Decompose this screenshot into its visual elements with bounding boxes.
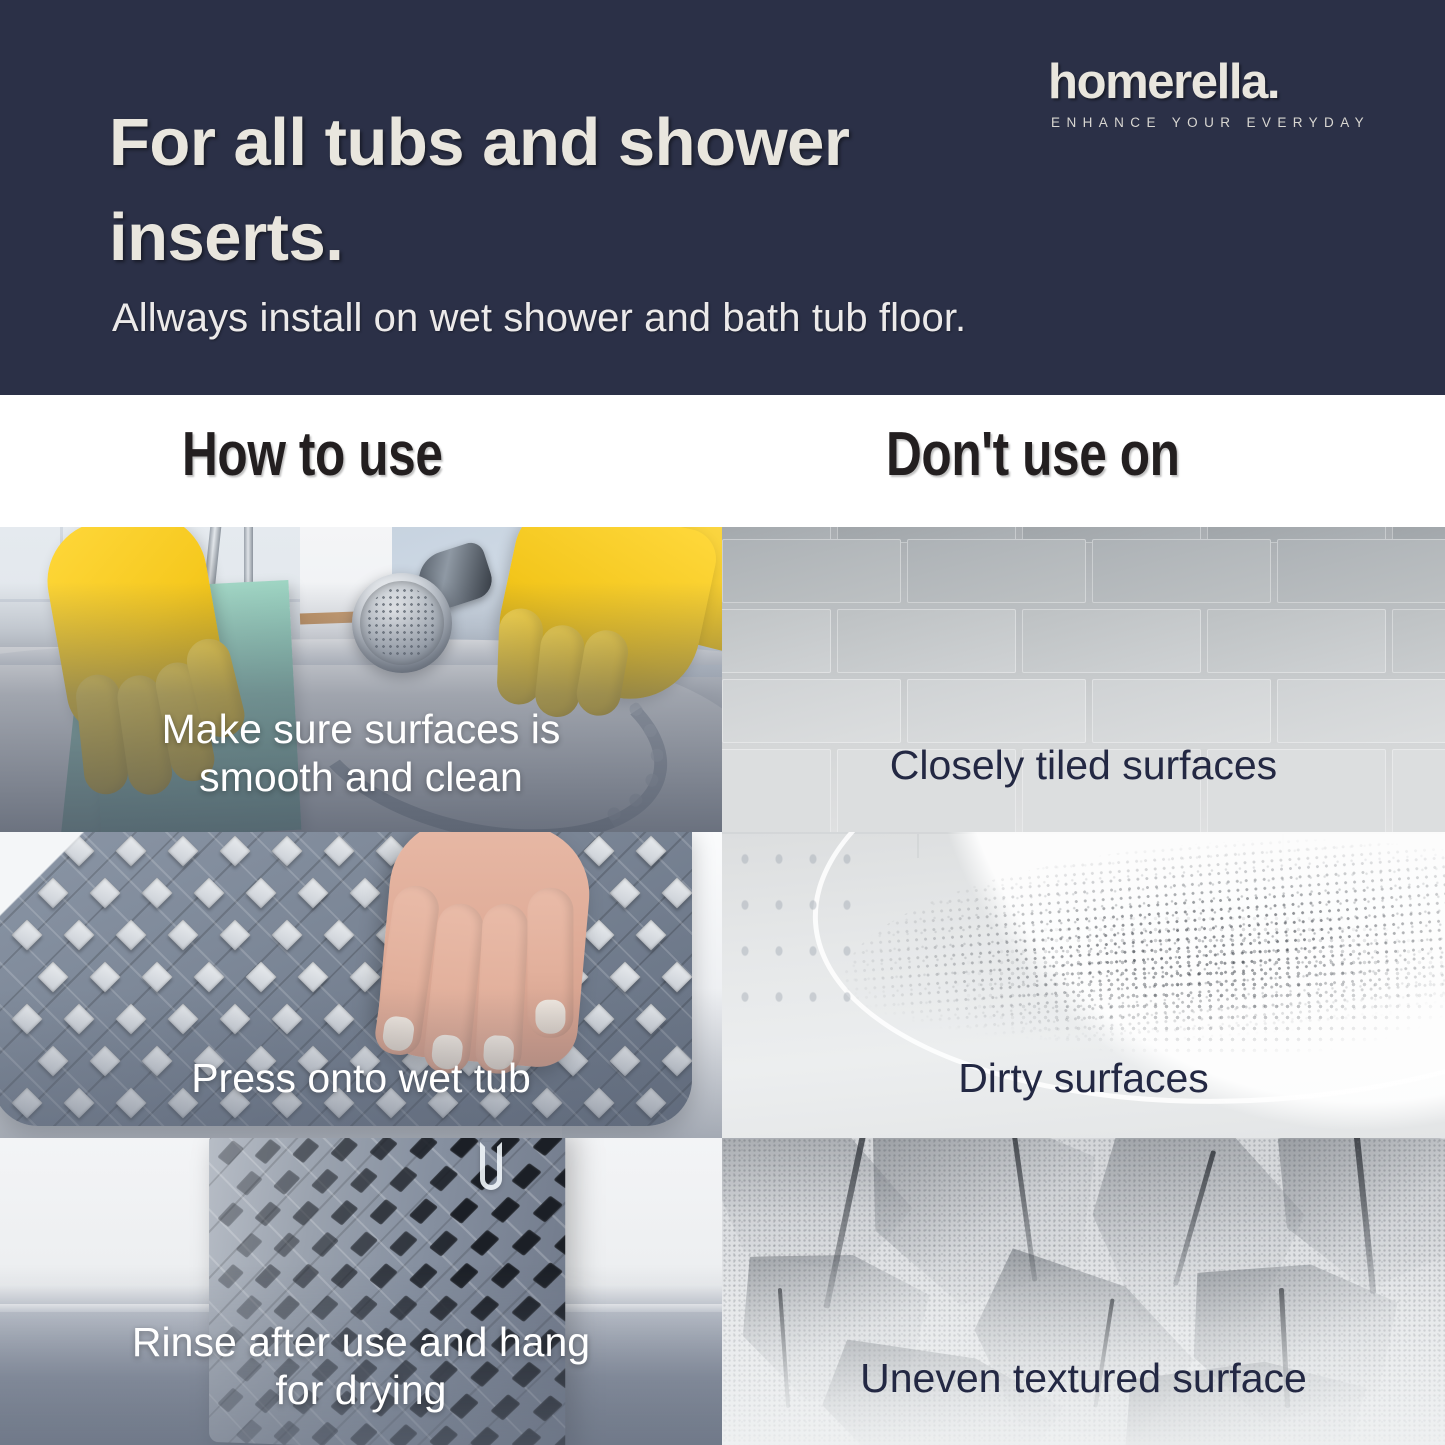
- mat-perforation: [583, 919, 614, 950]
- mat-perforation: [350, 1231, 378, 1257]
- mat-perforation: [273, 1169, 301, 1195]
- brand-name: homerella.: [1048, 58, 1370, 107]
- mat-perforation: [583, 835, 614, 866]
- mat-perforation: [245, 877, 276, 908]
- mat-perforation: [271, 919, 302, 950]
- mat-perforation: [635, 919, 666, 950]
- how-to-use-step-3-cell: Rinse after use and hang for drying: [0, 1138, 722, 1445]
- mat-perforation: [323, 919, 354, 950]
- how-to-use-step-3-caption: Rinse after use and hang for drying: [0, 1318, 722, 1415]
- mat-perforation: [369, 1138, 398, 1161]
- dont-use-on-step-1-caption: Closely tiled surfaces: [722, 741, 1445, 789]
- mat-perforation: [369, 1199, 398, 1225]
- mat-perforation: [553, 1228, 565, 1255]
- brand-tagline: ENHANCE YOUR EVERYDAY: [1048, 115, 1370, 130]
- mat-perforation: [236, 1233, 263, 1258]
- tile: [907, 679, 1086, 743]
- mat-perforation: [409, 1138, 438, 1160]
- mat-perforation: [273, 1232, 301, 1258]
- mat-perforation: [470, 1230, 500, 1257]
- how-to-use-step-2-caption: Press onto wet tub: [0, 1054, 722, 1102]
- mat-perforation: [292, 1200, 320, 1226]
- mat-perforation: [511, 1229, 542, 1256]
- tile: [1022, 609, 1201, 673]
- mat-perforation: [409, 1198, 438, 1224]
- mat-perforation: [323, 835, 354, 866]
- tile: [1277, 679, 1445, 743]
- product-infographic: For all tubs and shower inserts. Allways…: [0, 0, 1445, 1445]
- section-title-band: How to use Don't use on: [0, 395, 1445, 527]
- mat-perforation: [254, 1139, 281, 1165]
- mat-perforation: [236, 1170, 263, 1195]
- how-to-use-step-2-cell: Press onto wet tub: [0, 832, 722, 1138]
- mat-perforation: [532, 1196, 563, 1223]
- mat-perforation: [449, 1138, 479, 1159]
- mat-perforation: [349, 877, 380, 908]
- mat-perforation: [635, 835, 666, 866]
- tile: [1092, 679, 1271, 743]
- mat-perforation: [167, 835, 198, 866]
- tile: [1207, 609, 1386, 673]
- how-to-use-step-1-cell: Make sure surfaces is smooth and clean: [0, 527, 722, 832]
- page-title: For all tubs and shower inserts.: [109, 95, 869, 285]
- mat-perforation: [532, 1138, 563, 1156]
- dont-use-on-step-3-cell: Uneven textured surface: [722, 1138, 1445, 1445]
- tile: [1277, 539, 1445, 603]
- mat-perforation: [292, 1138, 320, 1163]
- header-banner: For all tubs and shower inserts. Allways…: [0, 0, 1445, 395]
- dont-use-on-step-1-cell: Closely tiled surfaces: [722, 527, 1445, 832]
- tile: [722, 609, 831, 673]
- mat-perforation: [553, 1162, 565, 1189]
- mat-perforation: [167, 919, 198, 950]
- how-to-use-step-1-caption: Make sure surfaces is smooth and clean: [0, 705, 722, 802]
- mat-perforation: [219, 835, 250, 866]
- mat-perforation: [254, 1201, 281, 1227]
- mat-perforation: [350, 1167, 378, 1193]
- mat-perforation: [193, 877, 224, 908]
- mat-perforation: [389, 1231, 418, 1257]
- mat-perforation: [311, 1168, 339, 1194]
- mat-perforation: [449, 1197, 479, 1224]
- section-title-how-to-use: How to use: [182, 419, 443, 490]
- mat-perforation: [217, 1202, 244, 1227]
- mat-perforation: [429, 1165, 459, 1192]
- mat-perforation: [429, 1230, 459, 1257]
- tile: [722, 679, 901, 743]
- mat-perforation: [490, 1196, 520, 1223]
- tile: [837, 609, 1016, 673]
- instruction-grid: Make sure surfaces is smooth and clean C…: [0, 527, 1445, 1445]
- mat-perforation: [115, 919, 146, 950]
- brand-logo: homerella. ENHANCE YOUR EVERYDAY: [1048, 58, 1370, 130]
- dont-use-on-step-2-cell: Dirty surfaces: [722, 832, 1445, 1138]
- mat-perforation: [330, 1138, 358, 1162]
- mat-perforation: [511, 1163, 542, 1190]
- tile: [907, 539, 1086, 603]
- mat-perforation: [219, 919, 250, 950]
- mat-perforation: [389, 1166, 418, 1192]
- mat-perforation: [115, 835, 146, 866]
- section-title-dont-use-on: Don't use on: [886, 419, 1180, 490]
- tile: [1392, 609, 1445, 673]
- mat-perforation: [330, 1200, 358, 1226]
- dont-use-on-step-2-caption: Dirty surfaces: [722, 1054, 1445, 1102]
- tile: [722, 539, 901, 603]
- mat-perforation: [311, 1232, 339, 1258]
- tile: [1092, 539, 1271, 603]
- mat-perforation: [609, 877, 640, 908]
- dont-use-on-step-3-caption: Uneven textured surface: [722, 1354, 1445, 1402]
- mat-perforation: [141, 877, 172, 908]
- mat-perforation: [271, 835, 302, 866]
- page-subtitle: Allways install on wet shower and bath t…: [112, 296, 966, 341]
- mat-perforation: [217, 1140, 244, 1165]
- mat-perforation: [297, 877, 328, 908]
- mat-perforation: [661, 877, 692, 908]
